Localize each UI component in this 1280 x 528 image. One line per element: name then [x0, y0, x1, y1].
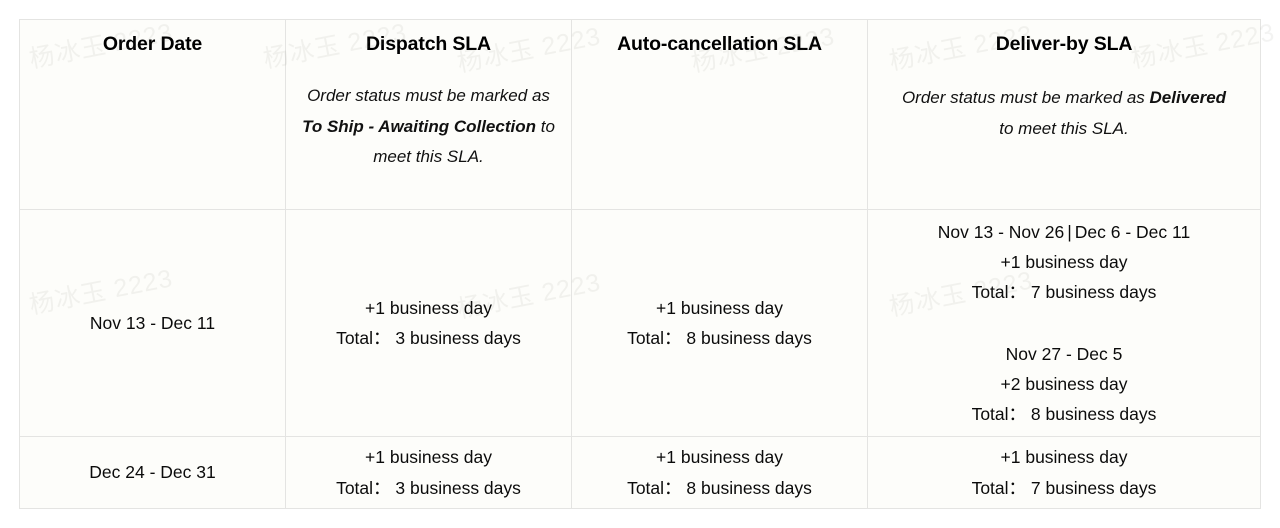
table-row: Nov 13 - Dec 11 +1 business day Total： 3… — [20, 210, 1261, 437]
dispatch-sla-value-2: +1 business day Total： 3 business days — [294, 442, 563, 502]
dispatch-sla-total-1: Total： 3 business days — [294, 323, 563, 353]
dispatch-sla-value-1: +1 business day Total： 3 business days — [294, 293, 563, 353]
dispatch-sla-total-2: Total： 3 business days — [294, 473, 563, 503]
cell-dispatch-sla: +1 business day Total： 3 business days — [286, 210, 572, 437]
table-row: Dec 24 - Dec 31 +1 business day Total： 3… — [20, 437, 1261, 509]
order-date-range-2: Dec 24 - Dec 31 — [28, 457, 277, 487]
column-note-deliver-suffix: to meet this SLA. — [999, 119, 1128, 138]
deliver-by-total-1a: Total： 7 business days — [876, 277, 1252, 307]
auto-cancellation-total-1: Total： 8 business days — [580, 323, 859, 353]
dispatch-sla-offset-2: +1 business day — [294, 442, 563, 472]
column-title-dispatch-sla: Dispatch SLA — [294, 33, 563, 56]
column-title-order-date: Order Date — [28, 33, 277, 56]
deliver-by-sla-value-2: +1 business day Total： 7 business days — [876, 442, 1252, 502]
cell-order-date: Nov 13 - Dec 11 — [20, 210, 286, 437]
auto-cancellation-offset-1: +1 business day — [580, 293, 859, 323]
table-header-row: Order Date Dispatch SLA Order status mus… — [20, 20, 1261, 210]
range-separator-icon: | — [1064, 222, 1075, 242]
deliver-by-block-spacer — [876, 308, 1252, 339]
dispatch-sla-offset-1: +1 business day — [294, 293, 563, 323]
column-note-deliver-prefix: Order status must be marked as — [902, 88, 1150, 107]
deliver-by-offset-1b: +2 business day — [876, 369, 1252, 399]
auto-cancellation-total-2: Total： 8 business days — [580, 473, 859, 503]
deliver-by-total-2: Total： 7 business days — [876, 473, 1252, 503]
deliver-by-range-2: Nov 27 - Dec 5 — [876, 339, 1252, 369]
column-title-deliver-by-sla: Deliver-by SLA — [876, 33, 1252, 56]
deliver-by-total-1b: Total： 8 business days — [876, 399, 1252, 429]
deliver-by-offset-1a: +1 business day — [876, 247, 1252, 277]
sla-table: Order Date Dispatch SLA Order status mus… — [19, 19, 1261, 509]
header-cell-deliver-by-sla: Deliver-by SLA Order status must be mark… — [868, 20, 1261, 210]
deliver-by-block-2: Nov 27 - Dec 5 +2 business day Total： 8 … — [876, 339, 1252, 429]
column-note-dispatch-sla: Order status must be marked as To Ship -… — [294, 81, 563, 172]
auto-cancellation-sla-value-1: +1 business day Total： 8 business days — [580, 293, 859, 353]
cell-deliver-by-sla: +1 business day Total： 7 business days — [868, 437, 1261, 509]
cell-order-date: Dec 24 - Dec 31 — [20, 437, 286, 509]
deliver-by-range-1: Nov 13 - Nov 26|Dec 6 - Dec 11 — [876, 217, 1252, 247]
auto-cancellation-offset-2: +1 business day — [580, 442, 859, 472]
cell-deliver-by-sla: Nov 13 - Nov 26|Dec 6 - Dec 11 +1 busine… — [868, 210, 1261, 437]
auto-cancellation-sla-value-2: +1 business day Total： 8 business days — [580, 442, 859, 502]
deliver-by-range-right-1: Dec 6 - Dec 11 — [1075, 222, 1190, 242]
deliver-by-block-1: Nov 13 - Nov 26|Dec 6 - Dec 11 +1 busine… — [876, 217, 1252, 307]
cell-auto-cancellation-sla: +1 business day Total： 8 business days — [572, 210, 868, 437]
header-cell-auto-cancellation-sla: Auto-cancellation SLA — [572, 20, 868, 210]
deliver-by-range-left-1: Nov 13 - Nov 26 — [938, 222, 1064, 242]
header-cell-dispatch-sla: Dispatch SLA Order status must be marked… — [286, 20, 572, 210]
deliver-by-offset-2: +1 business day — [876, 442, 1252, 472]
column-note-deliver-by-sla: Order status must be marked as Delivered… — [876, 83, 1252, 144]
order-date-range-1: Nov 13 - Dec 11 — [28, 308, 277, 338]
column-note-dispatch-status: To Ship - Awaiting Collection — [302, 117, 536, 136]
column-note-dispatch-prefix: Order status must be marked as — [307, 86, 550, 105]
header-cell-order-date: Order Date — [20, 20, 286, 210]
cell-dispatch-sla: +1 business day Total： 3 business days — [286, 437, 572, 509]
column-title-auto-cancellation-sla: Auto-cancellation SLA — [580, 33, 859, 56]
column-note-deliver-status: Delivered — [1150, 88, 1227, 107]
sla-table-container: Order Date Dispatch SLA Order status mus… — [19, 19, 1260, 508]
deliver-by-sla-value-1: Nov 13 - Nov 26|Dec 6 - Dec 11 +1 busine… — [876, 217, 1252, 429]
cell-auto-cancellation-sla: +1 business day Total： 8 business days — [572, 437, 868, 509]
